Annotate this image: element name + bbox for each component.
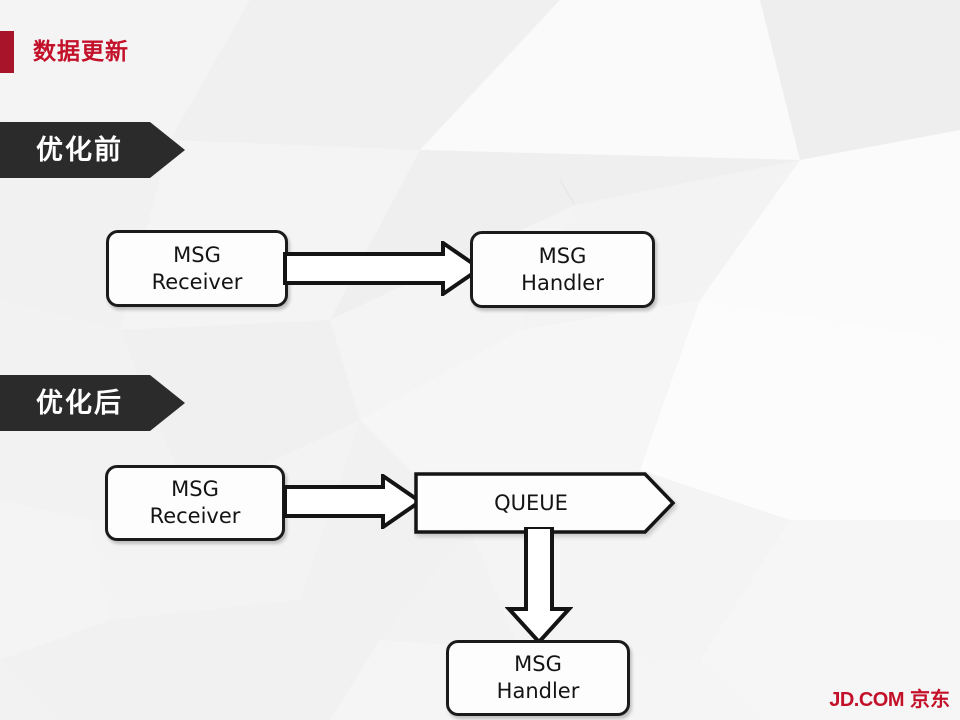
arrow-receiver-to-handler-before [283, 241, 483, 296]
node-label-line1: MSG [514, 651, 562, 678]
brand-logo: JD.COM 京东 [829, 683, 950, 712]
node-msg-receiver-after: MSG Receiver [105, 465, 285, 541]
node-queue: QUEUE [414, 472, 676, 534]
title-accent-bar [0, 31, 14, 73]
node-label-line2: Handler [497, 678, 580, 705]
node-msg-handler-before: MSG Handler [470, 231, 655, 308]
node-label-line2: Receiver [150, 503, 241, 530]
brand-logo-latin: JD.COM [829, 689, 904, 712]
section-banner-label-after: 优化后 [36, 375, 123, 431]
node-label-line1: MSG [173, 242, 221, 269]
section-banner-before: 优化前 [0, 122, 186, 178]
node-label-line1: MSG [539, 243, 587, 270]
node-label-queue: QUEUE [414, 472, 648, 534]
node-msg-handler-after: MSG Handler [446, 640, 630, 716]
section-banner-after: 优化后 [0, 375, 186, 431]
arrow-queue-to-handler [505, 527, 573, 645]
arrow-receiver-to-queue [283, 474, 423, 529]
section-banner-label-before: 优化前 [36, 122, 123, 178]
slide-canvas: 数据更新 优化前 优化后 MSG Receiver MSG Handler MS… [0, 0, 960, 720]
brand-logo-cjk: 京东 [910, 683, 950, 712]
page-title: 数据更新 [33, 36, 129, 66]
node-label-line1: MSG [171, 476, 219, 503]
node-label-line2: Handler [521, 270, 604, 297]
node-msg-receiver-before: MSG Receiver [106, 230, 288, 307]
node-label-line2: Receiver [152, 269, 243, 296]
background-polygon-pattern [0, 0, 960, 720]
